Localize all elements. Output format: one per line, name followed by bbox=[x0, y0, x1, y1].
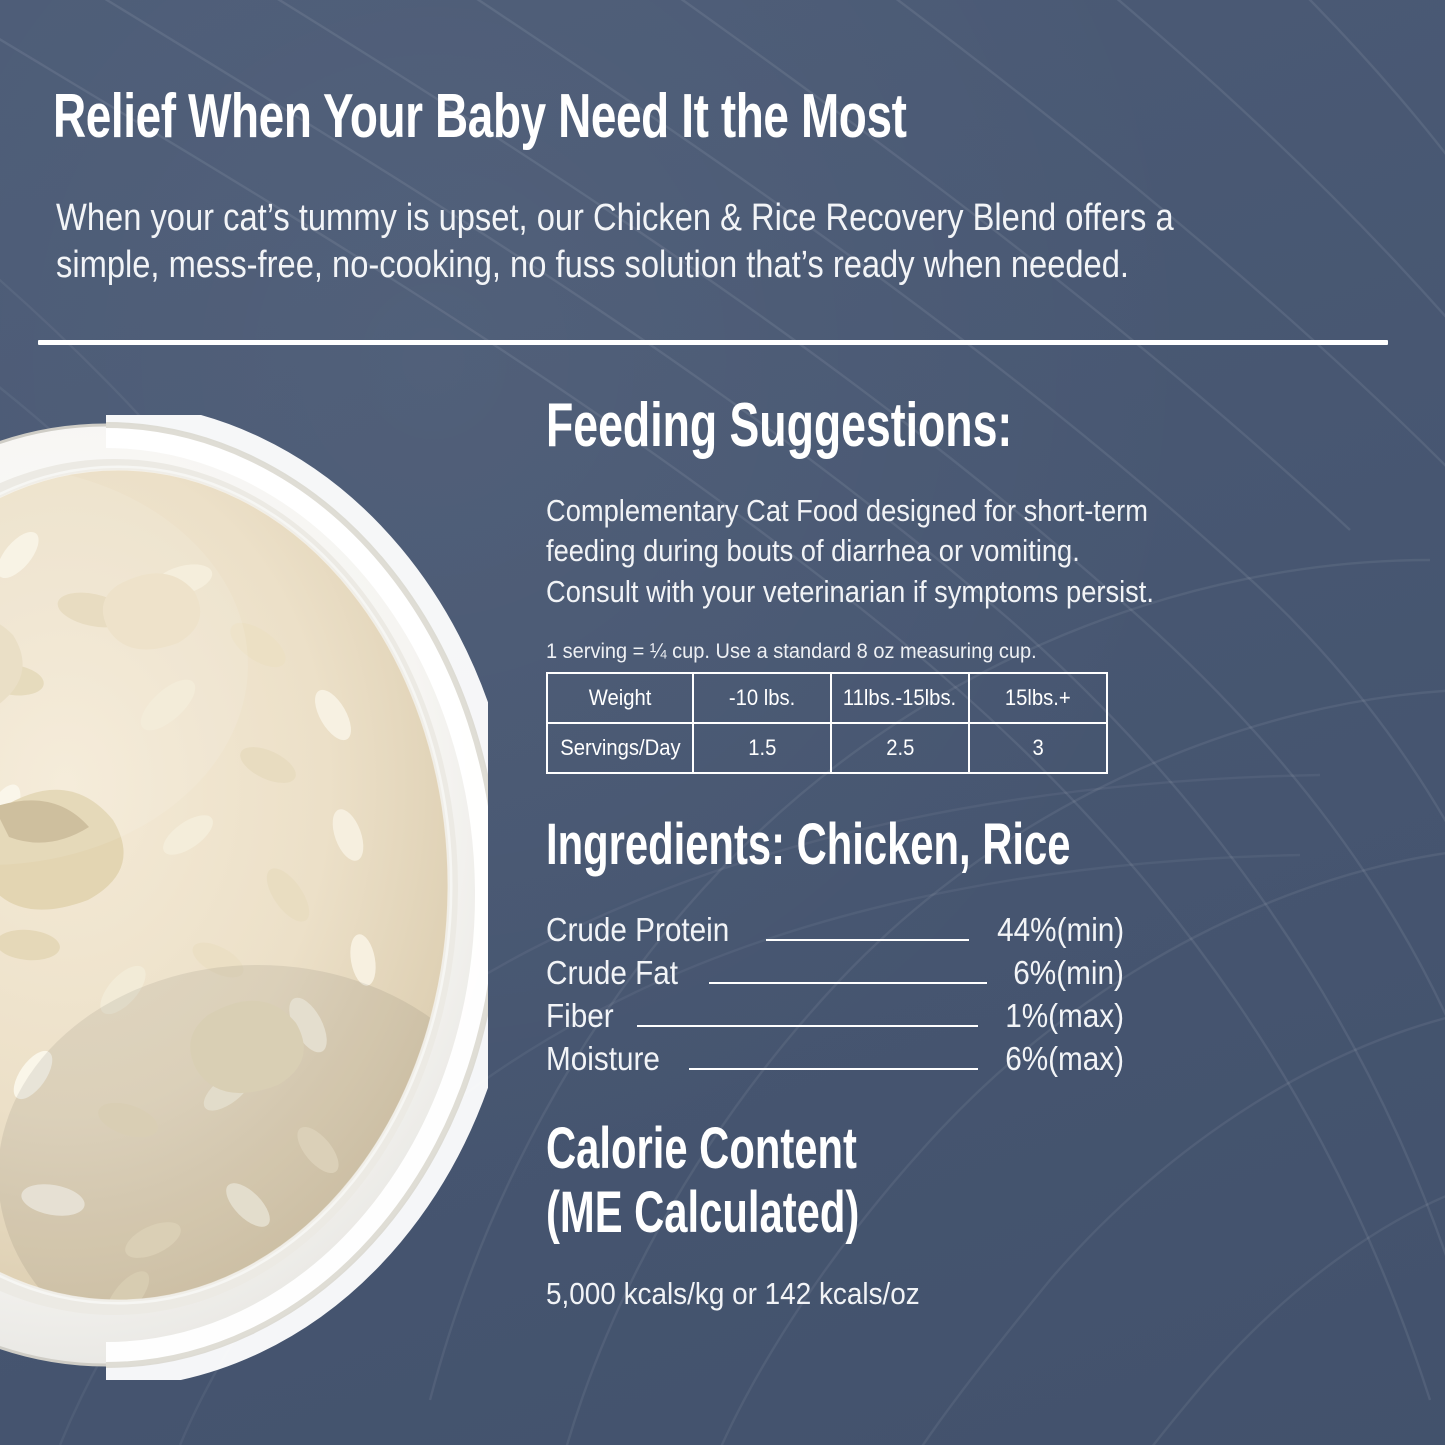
leader-line bbox=[766, 939, 969, 941]
table-cell-weight-2: 11lbs.-15lbs. bbox=[831, 673, 969, 723]
subtitle-line-1: When your cat’s tummy is upset, our Chic… bbox=[56, 195, 1200, 242]
feeding-body-line-2: feeding during bouts of diarrhea or vomi… bbox=[546, 531, 1074, 571]
table-row-weight: Weight -10 lbs. 11lbs.-15lbs. 15lbs.+ bbox=[547, 673, 1107, 723]
analysis-name: Fiber bbox=[546, 997, 614, 1035]
subtitle-line-2: simple, mess-free, no-cooking, no fuss s… bbox=[56, 242, 1200, 289]
analysis-row: Fiber 1%(max) bbox=[546, 997, 1124, 1035]
feeding-suggestions-heading: Feeding Suggestions: bbox=[546, 395, 978, 457]
leader-line bbox=[709, 982, 987, 984]
table-cell-servings-3: 3 bbox=[969, 723, 1107, 773]
analysis-name: Crude Protein bbox=[546, 911, 729, 949]
analysis-value: 6%(min) bbox=[1013, 954, 1124, 992]
calorie-heading-line-1: Calorie Content bbox=[546, 1120, 978, 1178]
analysis-row: Moisture 6%(max) bbox=[546, 1040, 1124, 1078]
infographic-page: Relief When Your Baby Need It the Most W… bbox=[0, 0, 1445, 1445]
table-cell-servings-2: 2.5 bbox=[831, 723, 969, 773]
ingredients-heading: Ingredients: Chicken, Rice bbox=[546, 816, 978, 874]
analysis-value: 6%(max) bbox=[1005, 1040, 1124, 1078]
table-row-servings: Servings/Day 1.5 2.5 3 bbox=[547, 723, 1107, 773]
header-divider bbox=[38, 340, 1388, 345]
table-cell-weight-label: Weight bbox=[547, 673, 693, 723]
feeding-body-line-3: Consult with your veterinarian if sympto… bbox=[546, 572, 1074, 612]
table-cell-servings-label: Servings/Day bbox=[547, 723, 693, 773]
details-column: Feeding Suggestions: Complementary Cat F… bbox=[546, 395, 1146, 1312]
analysis-value: 44%(min) bbox=[997, 911, 1124, 949]
page-subtitle: When your cat’s tummy is upset, our Chic… bbox=[56, 195, 1200, 289]
calorie-heading-line-2: (ME Calculated) bbox=[546, 1184, 978, 1242]
analysis-value: 1%(max) bbox=[1005, 997, 1124, 1035]
analysis-row: Crude Fat 6%(min) bbox=[546, 954, 1124, 992]
bowl-of-chicken-and-rice-image bbox=[0, 415, 488, 1380]
analysis-row: Crude Protein 44%(min) bbox=[546, 911, 1124, 949]
product-photo bbox=[0, 415, 488, 1380]
table-cell-weight-3: 15lbs.+ bbox=[969, 673, 1107, 723]
feeding-body: Complementary Cat Food designed for shor… bbox=[546, 491, 1074, 612]
calorie-content-heading: Calorie Content (ME Calculated) bbox=[546, 1120, 1146, 1242]
feeding-body-line-1: Complementary Cat Food designed for shor… bbox=[546, 491, 1074, 531]
page-title: Relief When Your Baby Need It the Most bbox=[53, 86, 907, 148]
guaranteed-analysis-list: Crude Protein 44%(min) Crude Fat 6%(min)… bbox=[546, 911, 1146, 1078]
analysis-name: Moisture bbox=[546, 1040, 660, 1078]
calorie-value: 5,000 kcals/kg or 142 kcals/oz bbox=[546, 1276, 1086, 1312]
leader-line bbox=[637, 1025, 978, 1027]
table-cell-servings-1: 1.5 bbox=[693, 723, 831, 773]
leader-line bbox=[689, 1068, 978, 1070]
serving-note: 1 serving = ¼ cup. Use a standard 8 oz m… bbox=[546, 639, 1104, 664]
analysis-name: Crude Fat bbox=[546, 954, 678, 992]
table-cell-weight-1: -10 lbs. bbox=[693, 673, 831, 723]
feeding-table: Weight -10 lbs. 11lbs.-15lbs. 15lbs.+ Se… bbox=[546, 672, 1108, 774]
